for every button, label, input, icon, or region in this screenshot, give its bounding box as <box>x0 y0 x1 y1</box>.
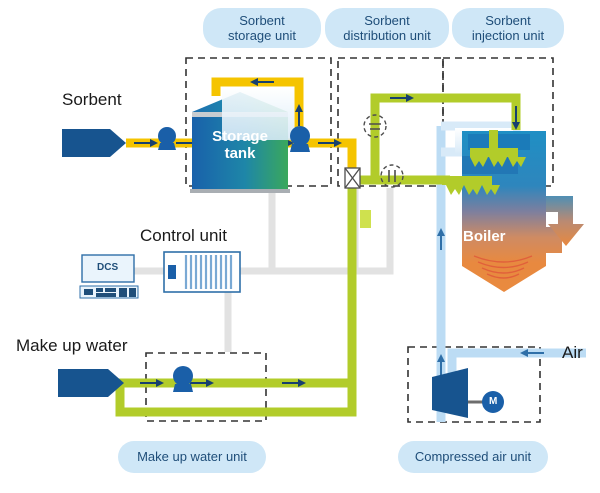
boundary-compressed-air <box>408 347 540 422</box>
control-unit-group <box>80 252 240 298</box>
nozzle-l1 <box>446 185 464 195</box>
arrow-makeup-tail-2 <box>190 382 208 384</box>
pump-icon-tank-discharge <box>290 126 310 152</box>
arrow-sorbent-tail-4 <box>318 142 336 144</box>
pill-line-2: injection unit <box>472 28 544 43</box>
arrow-air-inlet-tail <box>526 352 544 354</box>
arrow-riser-down-tail <box>515 106 517 122</box>
sorbent-inlet-arrow <box>62 129 126 157</box>
unit-pill-make-up-water: Make up water unit <box>118 441 266 473</box>
pill-line-1: Sorbent <box>239 13 285 28</box>
arrow-air-tail-1 <box>440 234 442 250</box>
arrow-sorbent-tail-2 <box>176 142 194 144</box>
flow-indicator-icon <box>360 210 371 228</box>
unit-pill-sorbent-storage: Sorbent storage unit <box>203 8 321 48</box>
pill-line-2: storage unit <box>228 28 296 43</box>
arrow-recirc-tail <box>256 81 274 83</box>
arrow-slurry-tail-b1 <box>282 382 300 384</box>
unit-pill-sorbent-injection: Sorbent injection unit <box>452 8 564 48</box>
pill-line-1: Sorbent <box>364 13 410 28</box>
arrow-air-tail-2 <box>440 360 442 376</box>
pump-icon-sorbent-inlet <box>158 127 176 150</box>
arrow-makeup-tail-1 <box>140 382 158 384</box>
plc-status-led <box>168 265 176 279</box>
signal-plc-to-valve <box>240 188 355 271</box>
signal-plc-to-tankpump <box>240 188 272 271</box>
sorbent-inlet-label: Sorbent <box>62 90 122 110</box>
air-inlet-label: Air <box>562 343 583 363</box>
tank-base <box>190 189 290 193</box>
pipe-pump-discharge <box>308 143 352 170</box>
pill-line-1: Make up water unit <box>137 449 247 464</box>
arrow-recirc-up-tail <box>298 110 300 126</box>
dcs-label: DCS <box>97 262 118 273</box>
storage-tank-label-line2: tank <box>225 145 256 162</box>
boiler-label: Boiler <box>463 228 506 245</box>
valve-icon-globe <box>345 168 360 188</box>
arrow-sorbent-tail-1 <box>134 142 152 144</box>
process-flow-diagram: Sorbent storage unit Sorbent distributio… <box>0 0 600 493</box>
make-up-water-label: Make up water <box>16 336 128 356</box>
pump-icon-makeup-water <box>173 366 193 392</box>
diagram-canvas <box>0 0 600 493</box>
unit-pill-sorbent-distribution: Sorbent distribution unit <box>325 8 449 48</box>
compressed-air-equipment <box>432 368 504 418</box>
pill-line-1: Sorbent <box>485 13 531 28</box>
pill-line-2: distribution unit <box>343 28 430 43</box>
motor-label: M <box>489 396 497 407</box>
pill-line-1: Compressed air unit <box>415 449 531 464</box>
make-up-water-inlet-arrow <box>58 369 124 397</box>
arrow-slurry-tail-top <box>390 97 408 99</box>
boiler-band-upper <box>468 134 530 150</box>
control-unit-label: Control unit <box>140 226 227 246</box>
storage-tank-label: Storage tank <box>196 128 284 163</box>
unit-pill-compressed-air: Compressed air unit <box>398 441 548 473</box>
signal-plc-to-injection <box>240 188 390 271</box>
storage-tank-label-line1: Storage <box>212 128 268 145</box>
